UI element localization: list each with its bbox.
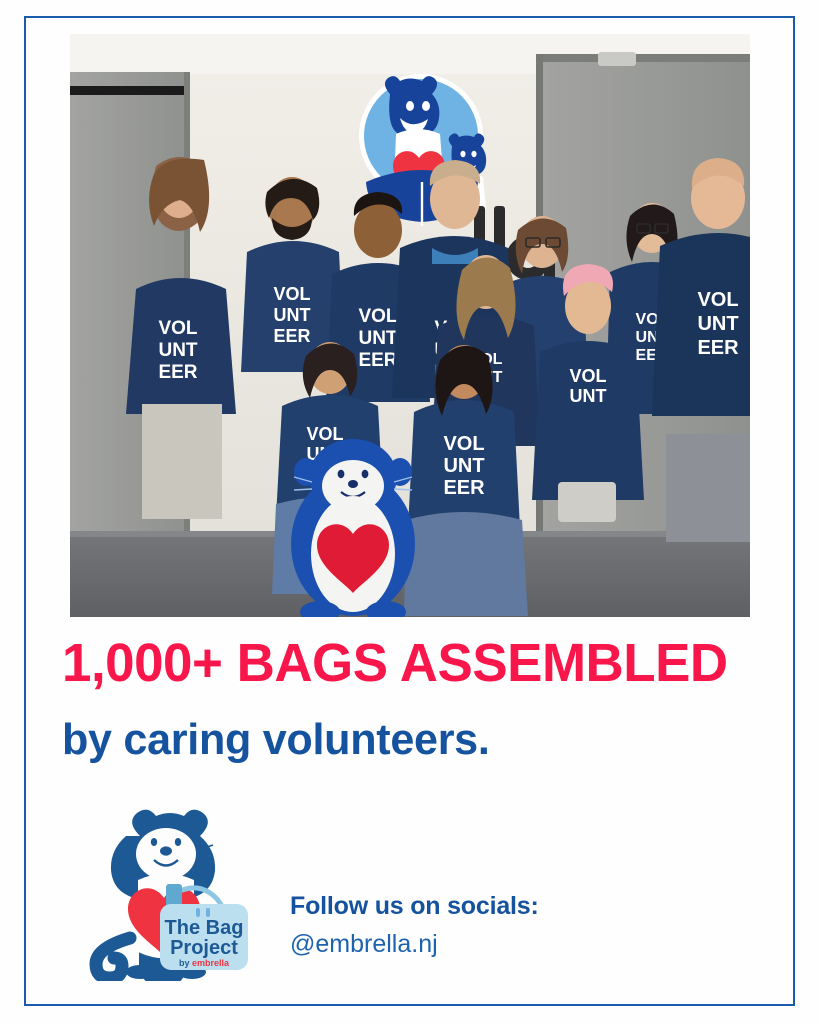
svg-text:UNT: UNT xyxy=(697,313,738,335)
svg-text:EER: EER xyxy=(443,477,485,499)
socials-handle[interactable]: @embrella.nj xyxy=(290,930,730,959)
the-bag-project-logo: The Bag Project by embrella xyxy=(78,806,258,981)
svg-text:UNT: UNT xyxy=(443,455,484,477)
svg-text:EER: EER xyxy=(358,350,397,371)
svg-text:UNT: UNT xyxy=(570,386,607,406)
svg-text:VOL: VOL xyxy=(158,318,197,339)
bag-line-1: The Bag xyxy=(165,917,244,939)
volunteer-group-photo: VOLUNTEER VOLUNTEER xyxy=(70,34,750,617)
bag-project-logo-illustration: The Bag Project by embrella xyxy=(78,806,258,981)
footer-band: The Bag Project by embrella Follow us on… xyxy=(62,800,762,990)
svg-text:UNT: UNT xyxy=(158,340,197,361)
socials-block: Follow us on socials: @embrella.nj xyxy=(290,892,730,959)
svg-text:UNT: UNT xyxy=(358,328,397,349)
svg-text:VOL: VOL xyxy=(569,366,606,386)
bag-line-2: Project xyxy=(170,937,238,959)
svg-text:EER: EER xyxy=(273,326,310,346)
socials-title: Follow us on socials: xyxy=(290,892,730,921)
bag-byline: by embrella xyxy=(179,958,230,968)
svg-text:UNT: UNT xyxy=(274,305,311,325)
plush-otter-mascot xyxy=(291,439,415,617)
svg-text:EER: EER xyxy=(697,337,739,359)
headline-primary: 1,000+ BAGS ASSEMBLED xyxy=(62,636,748,691)
headline-block: 1,000+ BAGS ASSEMBLED by caring voluntee… xyxy=(62,636,762,763)
poster-canvas: VOLUNTEER VOLUNTEER xyxy=(0,0,819,1024)
svg-text:VOL: VOL xyxy=(273,284,310,304)
svg-text:VOL: VOL xyxy=(306,424,343,444)
svg-text:VOL: VOL xyxy=(443,433,484,455)
svg-text:VOL: VOL xyxy=(697,289,738,311)
svg-text:EER: EER xyxy=(158,362,197,383)
photo-illustration: VOLUNTEER VOLUNTEER xyxy=(70,34,750,617)
svg-text:VOL: VOL xyxy=(358,306,397,327)
headline-secondary: by caring volunteers. xyxy=(62,717,748,763)
